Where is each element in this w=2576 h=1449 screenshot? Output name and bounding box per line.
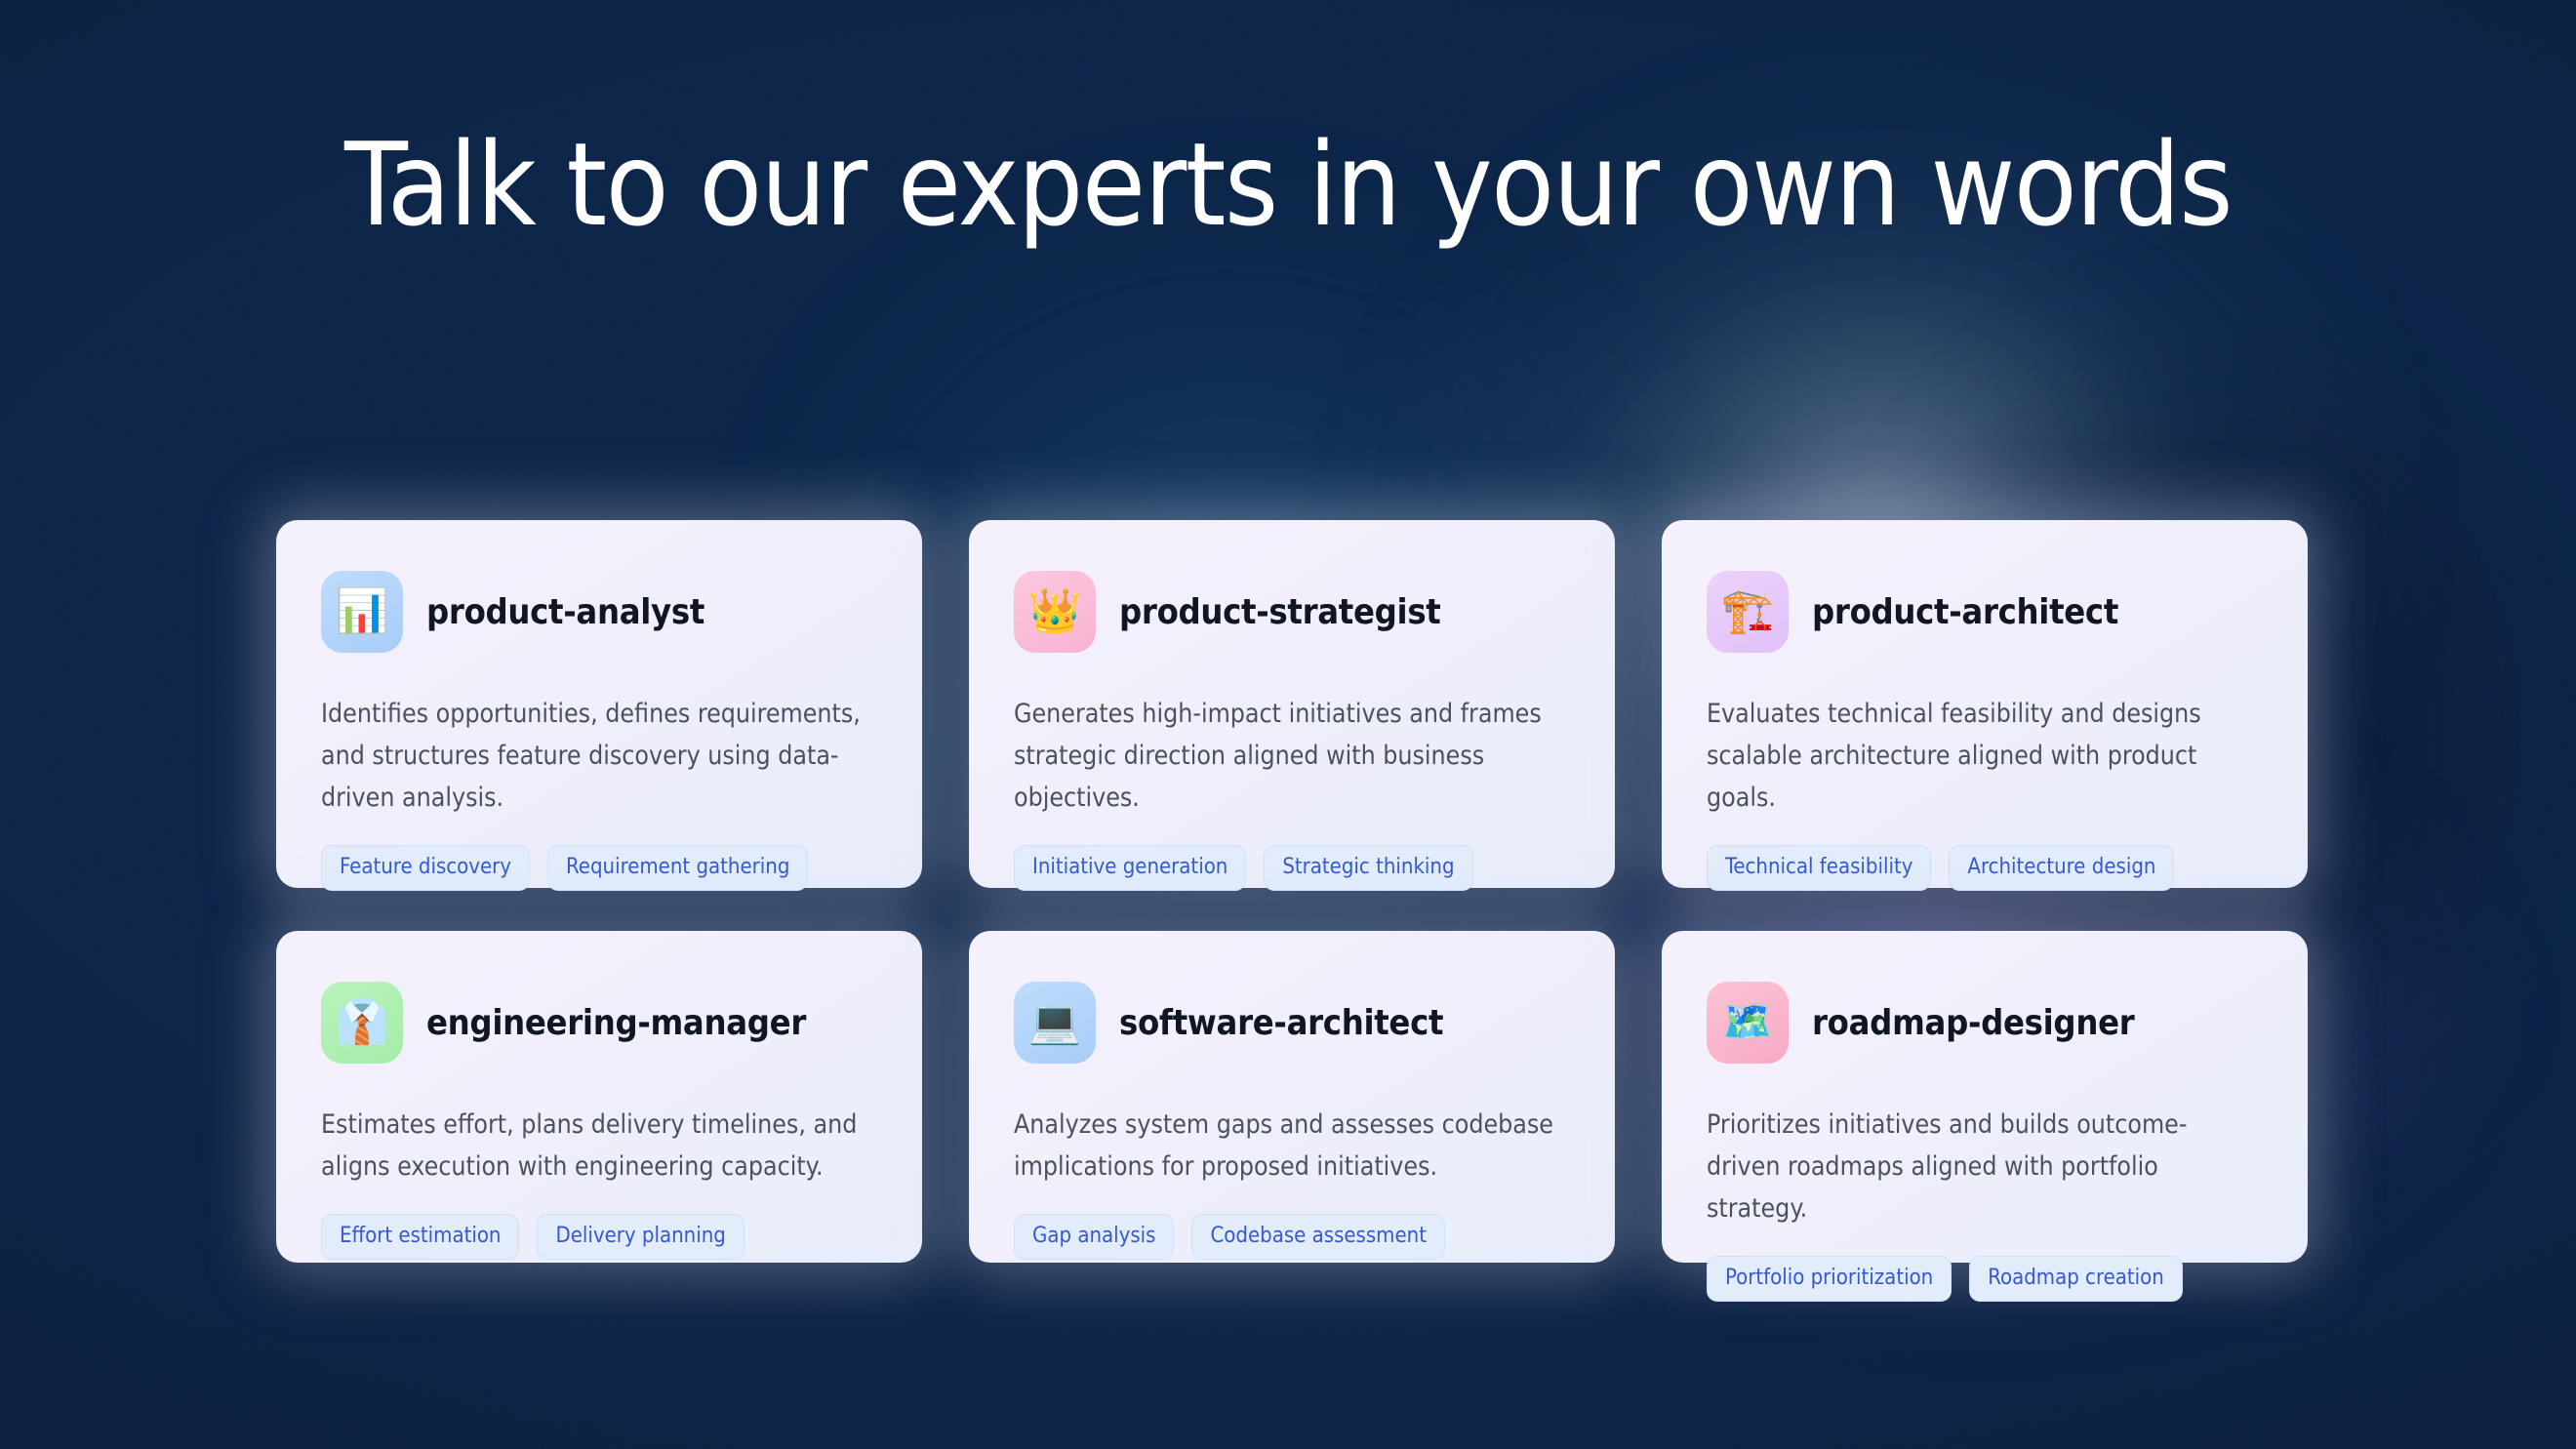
card-tag-list: Effort estimationDelivery planning xyxy=(321,1188,877,1260)
card-tag[interactable]: Roadmap creation xyxy=(1969,1256,2183,1302)
card-tag[interactable]: Initiative generation xyxy=(1014,845,1246,891)
agent-card[interactable]: 👑product-strategistGenerates high-impact… xyxy=(969,520,1615,888)
card-title: roadmap-designer xyxy=(1812,1003,2134,1043)
agent-card[interactable]: 📊product-analystIdentifies opportunities… xyxy=(276,520,922,888)
card-description: Analyzes system gaps and assesses codeba… xyxy=(1014,1105,1560,1188)
card-tag[interactable]: Technical feasibility xyxy=(1707,845,1931,891)
page-title: Talk to our experts in your own words xyxy=(0,125,2576,245)
card-title: product-architect xyxy=(1812,592,2118,632)
card-header: 👑product-strategist xyxy=(1014,571,1570,653)
card-tag-list: Gap analysisCodebase assessment xyxy=(1014,1188,1570,1260)
card-tag-list: Feature discoveryRequirement gathering xyxy=(321,820,877,891)
card-tag[interactable]: Strategic thinking xyxy=(1264,845,1472,891)
card-tag-list: Initiative generationStrategic thinking xyxy=(1014,820,1570,891)
card-tag[interactable]: Effort estimation xyxy=(321,1214,519,1260)
card-header: 👔engineering-manager xyxy=(321,982,877,1064)
card-tag[interactable]: Codebase assessment xyxy=(1191,1214,1444,1260)
card-tag[interactable]: Feature discovery xyxy=(321,845,530,891)
card-tag[interactable]: Requirement gathering xyxy=(547,845,808,891)
card-description: Generates high-impact initiatives and fr… xyxy=(1014,694,1560,820)
card-tag[interactable]: Gap analysis xyxy=(1014,1214,1174,1260)
card-tag[interactable]: Architecture design xyxy=(1949,845,2174,891)
card-header: 🏗️product-architect xyxy=(1707,571,2263,653)
card-tag-list: Portfolio prioritizationRoadmap creation xyxy=(1707,1230,2263,1302)
card-header: 🗺️roadmap-designer xyxy=(1707,982,2263,1064)
agent-card[interactable]: 👔engineering-managerEstimates effort, pl… xyxy=(276,931,922,1263)
card-description: Identifies opportunities, defines requir… xyxy=(321,694,867,820)
card-tag[interactable]: Portfolio prioritization xyxy=(1707,1256,1952,1302)
card-header: 💻software-architect xyxy=(1014,982,1570,1064)
construction-crane-emoji: 🏗️ xyxy=(1707,571,1789,653)
card-title: product-strategist xyxy=(1119,592,1441,632)
card-tag[interactable]: Delivery planning xyxy=(537,1214,744,1260)
card-title: engineering-manager xyxy=(426,1003,806,1043)
card-title: product-analyst xyxy=(426,592,704,632)
card-title: software-architect xyxy=(1119,1003,1443,1043)
card-header: 📊product-analyst xyxy=(321,571,877,653)
agent-card-grid: 📊product-analystIdentifies opportunities… xyxy=(276,520,2308,1263)
agent-card[interactable]: 🏗️product-architectEvaluates technical f… xyxy=(1662,520,2308,888)
agent-card[interactable]: 💻software-architectAnalyzes system gaps … xyxy=(969,931,1615,1263)
laptop-emoji: 💻 xyxy=(1014,982,1096,1064)
card-description: Prioritizes initiatives and builds outco… xyxy=(1707,1105,2253,1230)
card-description: Evaluates technical feasibility and desi… xyxy=(1707,694,2253,820)
card-description: Estimates effort, plans delivery timelin… xyxy=(321,1105,867,1188)
card-tag-list: Technical feasibilityArchitecture design xyxy=(1707,820,2263,891)
world-map-emoji: 🗺️ xyxy=(1707,982,1789,1064)
agent-card[interactable]: 🗺️roadmap-designerPrioritizes initiative… xyxy=(1662,931,2308,1263)
necktie-emoji: 👔 xyxy=(321,982,403,1064)
crown-emoji: 👑 xyxy=(1014,571,1096,653)
bar-chart-emoji: 📊 xyxy=(321,571,403,653)
